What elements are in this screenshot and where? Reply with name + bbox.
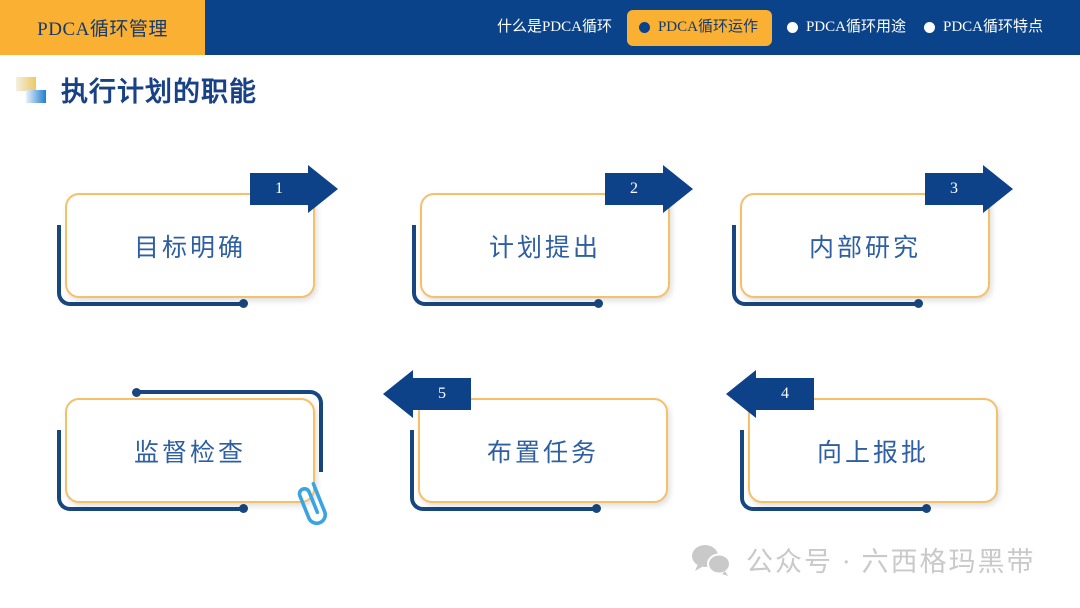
top-header-bar: PDCA循环管理 什么是PDCA循环 PDCA循环运作 PDCA循环用途 PDC… xyxy=(0,0,1080,55)
watermark: 公众号 · 六西格玛黑带 xyxy=(690,540,1036,579)
flow-card-4[interactable]: 向上报批 4 xyxy=(748,398,998,503)
bullet-dot-icon xyxy=(787,22,798,33)
watermark-text: 公众号 · 六西格玛黑带 xyxy=(746,540,1036,579)
two-squares-icon xyxy=(16,75,48,105)
arrow-right-icon: 2 xyxy=(605,165,693,213)
top-nav: 什么是PDCA循环 PDCA循环运作 PDCA循环用途 PDCA循环特点 xyxy=(488,0,1052,55)
arrow-right-icon: 1 xyxy=(250,165,338,213)
step-number: 1 xyxy=(250,165,308,213)
nav-item-pdca-operation[interactable]: PDCA循环运作 xyxy=(627,10,772,46)
brand-title: PDCA循环管理 xyxy=(0,0,205,55)
flow-card-label: 内部研究 xyxy=(809,228,921,264)
nav-item-label: PDCA循环特点 xyxy=(943,20,1043,35)
nav-item-label: PDCA循环运作 xyxy=(658,20,758,35)
flow-card-label: 目标明确 xyxy=(134,228,246,264)
flow-card-3[interactable]: 内部研究 3 xyxy=(740,193,990,298)
step-number: 4 xyxy=(756,370,814,418)
flow-card-2[interactable]: 计划提出 2 xyxy=(420,193,670,298)
arrow-right-icon: 3 xyxy=(925,165,1013,213)
bullet-dot-icon xyxy=(639,22,650,33)
arrow-left-icon: 4 xyxy=(726,370,814,418)
step-number: 2 xyxy=(605,165,663,213)
nav-item-pdca-features[interactable]: PDCA循环特点 xyxy=(915,0,1052,55)
flow-card-label: 计划提出 xyxy=(489,228,601,264)
step-number: 3 xyxy=(925,165,983,213)
paperclip-icon xyxy=(291,479,337,529)
flow-card-label: 布置任务 xyxy=(487,433,599,469)
arrow-left-icon: 5 xyxy=(383,370,471,418)
flow-card-box[interactable]: 监督检查 xyxy=(65,398,315,503)
flow-card-1[interactable]: 目标明确 1 xyxy=(65,193,315,298)
flow-card-6[interactable]: 监督检查 xyxy=(65,398,315,503)
nav-item-what-is-pdca[interactable]: 什么是PDCA循环 xyxy=(488,0,621,55)
nav-item-label: 什么是PDCA循环 xyxy=(497,20,612,35)
slide-canvas: PDCA循环管理 什么是PDCA循环 PDCA循环运作 PDCA循环用途 PDC… xyxy=(0,0,1080,608)
section-title: 执行计划的职能 xyxy=(16,70,257,109)
flow-card-label: 向上报批 xyxy=(817,433,929,469)
flow-card-5[interactable]: 布置任务 5 xyxy=(418,398,668,503)
nav-item-pdca-usage[interactable]: PDCA循环用途 xyxy=(778,0,915,55)
flow-card-label: 监督检查 xyxy=(134,433,246,469)
wechat-icon xyxy=(690,543,732,577)
page-title: 执行计划的职能 xyxy=(61,70,257,109)
nav-item-label: PDCA循环用途 xyxy=(806,20,906,35)
step-number: 5 xyxy=(413,370,471,418)
bullet-dot-icon xyxy=(924,22,935,33)
